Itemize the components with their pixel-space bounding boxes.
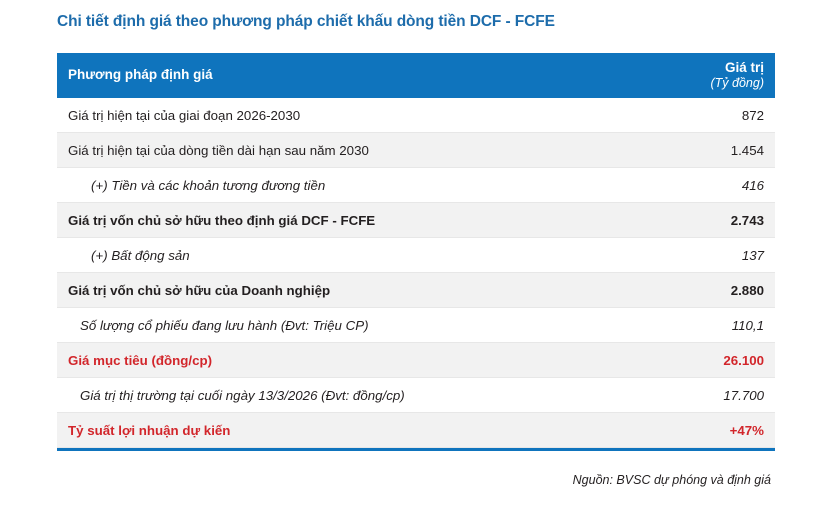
row-value: 872	[742, 108, 764, 123]
table-row: Giá mục tiêu (đồng/cp)26.100	[57, 343, 775, 378]
table-row: Giá trị thị trường tại cuối ngày 13/3/20…	[57, 378, 775, 413]
table-body: Giá trị hiện tại của giai đoạn 2026-2030…	[57, 98, 775, 448]
row-value: 2.743	[731, 213, 764, 228]
row-value: 416	[742, 178, 764, 193]
table-header-row: Phương pháp định giá Giá trị (Tỷ đồng)	[57, 53, 775, 98]
row-label: Giá trị thị trường tại cuối ngày 13/3/20…	[68, 388, 405, 403]
table-bottom-rule	[57, 448, 775, 451]
table-row: Giá trị hiện tại của dòng tiền dài hạn s…	[57, 133, 775, 168]
column-header-value-unit: (Tỷ đồng)	[711, 76, 765, 91]
row-value: 110,1	[732, 318, 764, 333]
table-row: Giá trị vốn chủ sở hữu theo định giá DCF…	[57, 203, 775, 238]
row-value: 1.454	[731, 143, 764, 158]
table-row: Giá trị vốn chủ sở hữu của Doanh nghiệp2…	[57, 273, 775, 308]
row-label: Giá trị hiện tại của giai đoạn 2026-2030	[68, 108, 300, 123]
row-label: (+) Bất động sản	[68, 248, 190, 263]
row-value: 26.100	[723, 353, 764, 368]
row-value: 2.880	[731, 283, 764, 298]
table-row: Số lượng cổ phiếu đang lưu hành (Đvt: Tr…	[57, 308, 775, 343]
row-value: 137	[742, 248, 764, 263]
table-row: (+) Bất động sản137	[57, 238, 775, 273]
page-title: Chi tiết định giá theo phương pháp chiết…	[57, 13, 555, 31]
table-row: Giá trị hiện tại của giai đoạn 2026-2030…	[57, 98, 775, 133]
row-label: (+) Tiền và các khoản tương đương tiền	[68, 178, 325, 193]
row-label: Giá trị hiện tại của dòng tiền dài hạn s…	[68, 143, 369, 158]
row-label: Giá trị vốn chủ sở hữu theo định giá DCF…	[68, 213, 375, 228]
table-row: Tỷ suất lợi nhuận dự kiến+47%	[57, 413, 775, 448]
table-row: (+) Tiền và các khoản tương đương tiền41…	[57, 168, 775, 203]
row-value: +47%	[730, 423, 764, 438]
column-header-value-main: Giá trị	[711, 60, 765, 76]
column-header-method: Phương pháp định giá	[68, 68, 213, 83]
row-value: 17.700	[723, 388, 764, 403]
column-header-value: Giá trị (Tỷ đồng)	[711, 60, 765, 91]
row-label: Giá trị vốn chủ sở hữu của Doanh nghiệp	[68, 283, 330, 298]
valuation-table-page: Chi tiết định giá theo phương pháp chiết…	[0, 0, 817, 511]
source-note: Nguồn: BVSC dự phóng và định giá	[573, 473, 771, 487]
row-label: Số lượng cổ phiếu đang lưu hành (Đvt: Tr…	[68, 318, 369, 333]
row-label: Giá mục tiêu (đồng/cp)	[68, 353, 212, 368]
row-label: Tỷ suất lợi nhuận dự kiến	[68, 423, 230, 438]
dcf-valuation-table: Phương pháp định giá Giá trị (Tỷ đồng) G…	[57, 53, 775, 451]
